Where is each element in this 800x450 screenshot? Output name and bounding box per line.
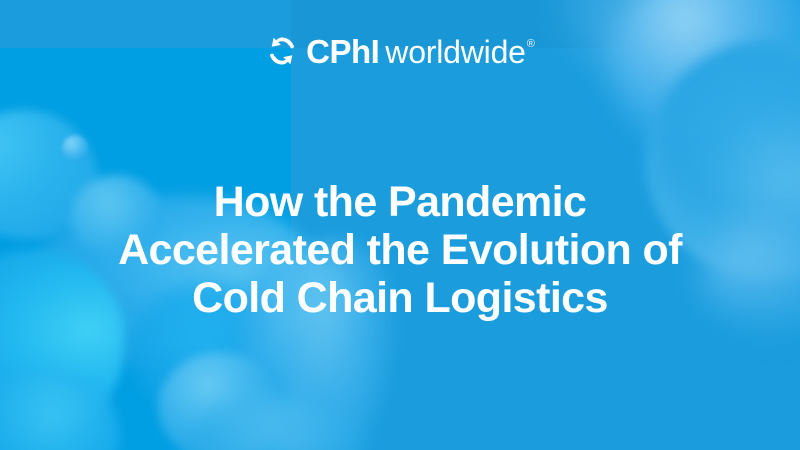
- title-line-3: Cold Chain Logistics: [40, 274, 760, 322]
- title-slide: CPhI worldwide ® How the Pandemic Accele…: [0, 0, 800, 450]
- decorative-blob-bottom-sphere: [158, 352, 283, 450]
- logo-wordmark: CPhI worldwide ®: [306, 35, 535, 68]
- decorative-blob-bottom-center: [186, 395, 366, 450]
- logo-worldwide-text: worldwide: [385, 36, 525, 68]
- title-line-2: Accelerated the Evolution of: [40, 226, 760, 274]
- page-title: How the Pandemic Accelerated the Evoluti…: [0, 178, 800, 322]
- decorative-blob-small-dot: [62, 135, 88, 161]
- cphi-worldwide-logo: CPhI worldwide ®: [0, 30, 800, 72]
- registered-mark: ®: [527, 39, 535, 50]
- cphi-circular-arrows-logo-icon: [265, 34, 299, 68]
- decorative-blob-right-upper: [612, 0, 800, 163]
- logo-cphi-text: CPhI: [306, 35, 379, 68]
- title-line-1: How the Pandemic: [40, 178, 760, 226]
- decorative-blob-bottom-left: [0, 370, 120, 450]
